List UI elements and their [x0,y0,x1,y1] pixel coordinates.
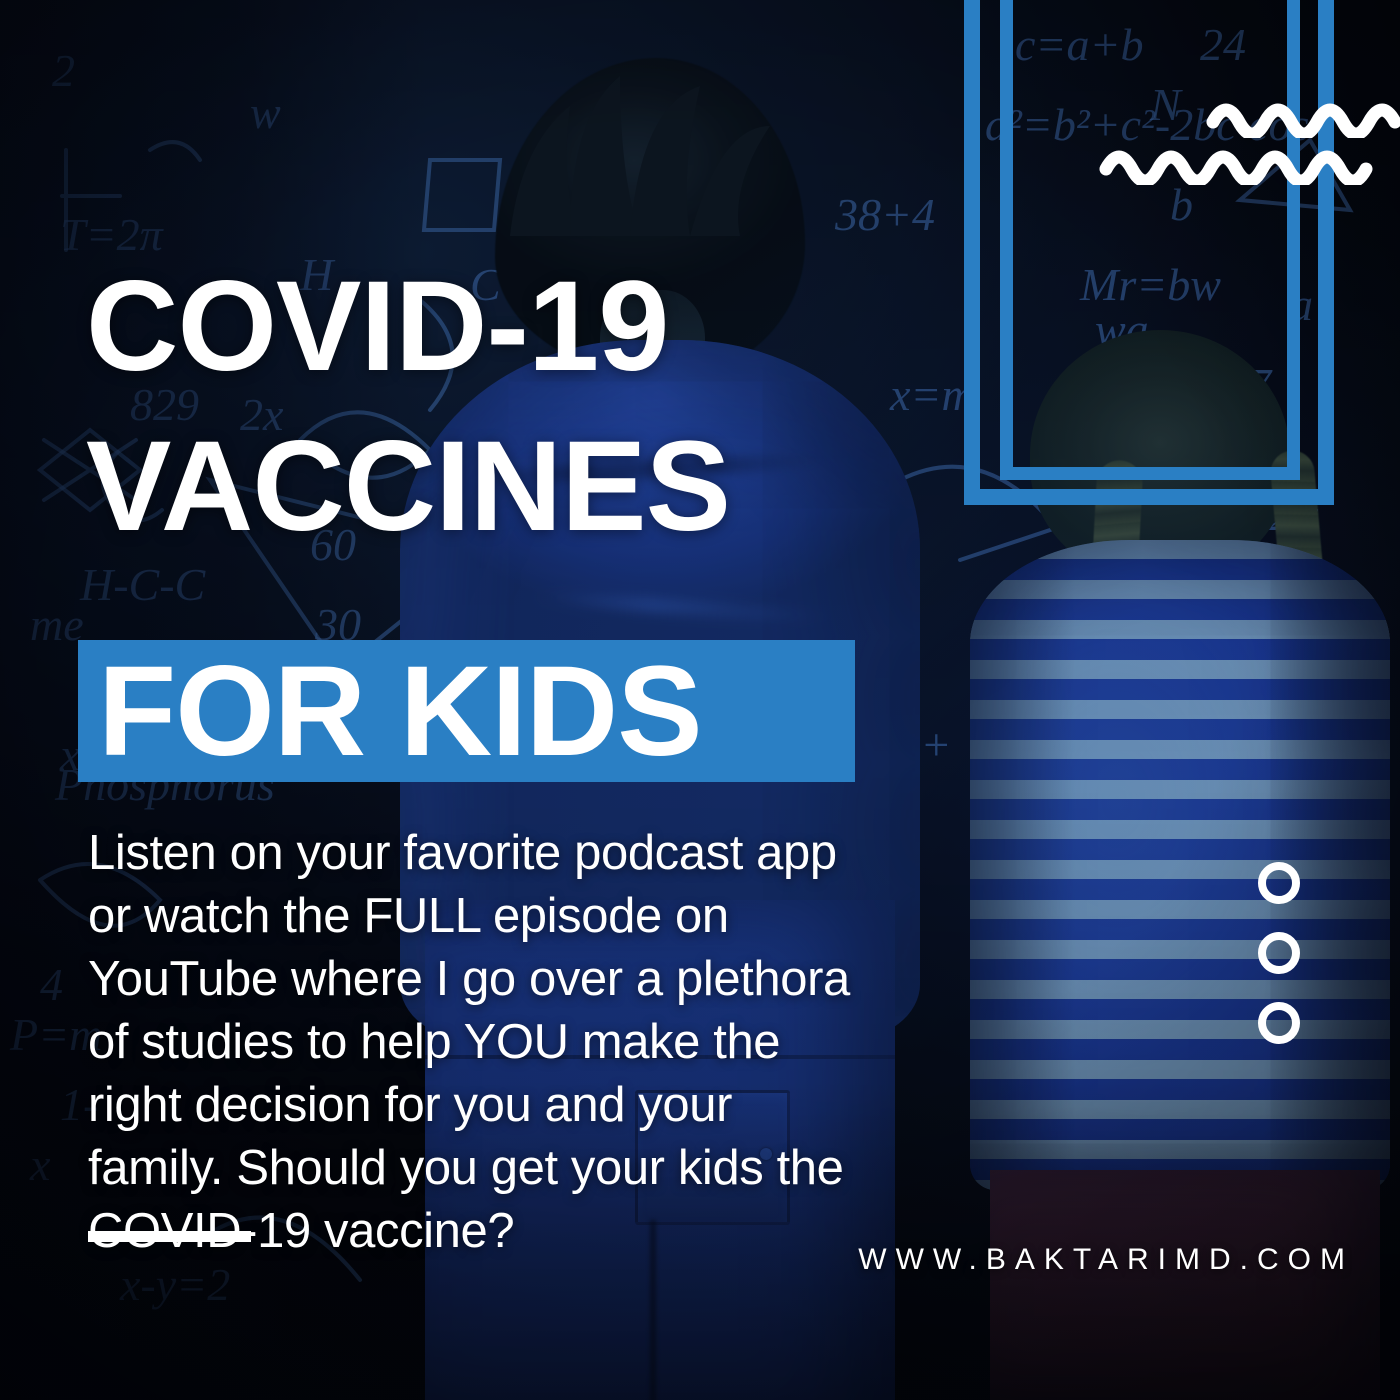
poster-canvas: 2 T=2π w 829 H C H 38+4 c=a+b a²=b²+c²-2… [0,0,1400,1400]
wavy-line-bottom-icon [1098,143,1378,185]
circle-outline-icon [1258,862,1300,904]
website-url: WWW.BAKTARIMD.COM [858,1243,1354,1277]
circle-dots-group [1258,862,1300,1072]
circle-outline-icon [1258,1002,1300,1044]
wavy-line-top-icon [1205,96,1400,138]
decorative-frame-inner-icon [1000,0,1300,480]
headline-line-1: COVID-19 [86,268,730,386]
headline: COVID-19 VACCINES [86,268,730,546]
headline-line-2: VACCINES [86,428,730,546]
highlight-line: FOR KIDS [98,648,702,776]
body-copy: Listen on your favorite podcast app or w… [88,822,878,1263]
circle-outline-icon [1258,932,1300,974]
underline-rule [88,1231,251,1242]
